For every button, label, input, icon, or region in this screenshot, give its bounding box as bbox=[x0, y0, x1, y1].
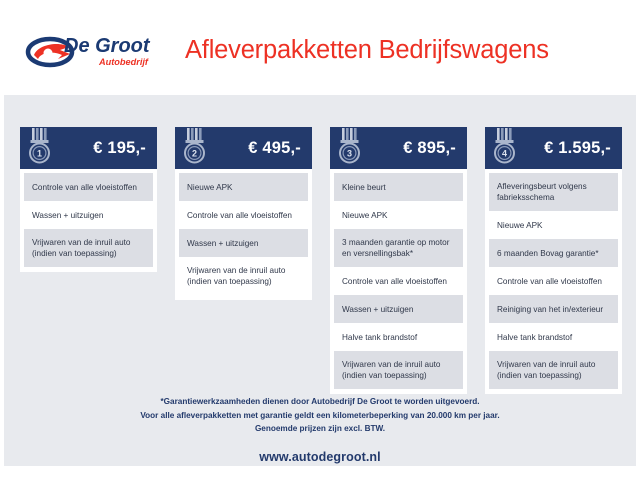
footer: *Garantiewerkzaamheden dienen door Autob… bbox=[4, 395, 636, 464]
package-price-header-2: 2 € 495,- bbox=[175, 127, 312, 169]
package-price-3: € 895,- bbox=[403, 139, 456, 158]
package-columns: 1 € 195,- Controle van alle vloeistoffen… bbox=[4, 95, 636, 395]
list-item: Vrijwaren van de inruil auto (indien van… bbox=[334, 351, 463, 389]
medal-icon: 1 bbox=[27, 128, 53, 168]
list-item: Controle van alle vloeistoffen bbox=[179, 201, 308, 229]
list-item: Wassen + uitzuigen bbox=[24, 201, 153, 229]
item-label: Controle van alle vloeistoffen bbox=[187, 210, 292, 221]
list-item: Afleveringsbeurt volgens fabrieksschema bbox=[489, 173, 618, 211]
package-item-list-2: Nieuwe APK Controle van alle vloeistoffe… bbox=[175, 169, 312, 300]
package-price-4: € 1.595,- bbox=[544, 139, 611, 158]
list-item: Halve tank brandstof bbox=[489, 323, 618, 351]
item-label: Reiniging van het in/exterieur bbox=[497, 304, 603, 315]
footnote-line-1: *Garantiewerkzaamheden dienen door Autob… bbox=[4, 395, 636, 409]
item-label: Vrijwaren van de inruil auto (indien van… bbox=[187, 265, 285, 287]
footnote-line-2: Voor alle afleverpakketten met garantie … bbox=[4, 409, 636, 423]
svg-text:4: 4 bbox=[502, 149, 507, 159]
page-header: De Groot Autobedrijf Afleverpakketten Be… bbox=[0, 0, 640, 95]
svg-text:De Groot: De Groot bbox=[64, 35, 151, 57]
package-item-list-4: Afleveringsbeurt volgens fabrieksschema … bbox=[485, 169, 622, 394]
list-item: Kleine beurt bbox=[334, 173, 463, 201]
item-label: Halve tank brandstof bbox=[342, 332, 417, 343]
page-title: Afleverpakketten Bedrijfswagens bbox=[185, 36, 549, 65]
svg-text:Autobedrijf: Autobedrijf bbox=[98, 57, 149, 67]
package-price-header-4: 4 € 1.595,- bbox=[485, 127, 622, 169]
svg-text:2: 2 bbox=[192, 149, 197, 159]
item-label: Vrijwaren van de inruil auto (indien van… bbox=[497, 359, 595, 381]
medal-icon: 2 bbox=[182, 128, 208, 168]
item-label: Halve tank brandstof bbox=[497, 332, 572, 343]
list-item: Vrijwaren van de inruil auto (indien van… bbox=[179, 257, 308, 295]
list-item: Halve tank brandstof bbox=[334, 323, 463, 351]
item-label: Vrijwaren van de inruil auto (indien van… bbox=[342, 359, 440, 381]
medal-icon: 3 bbox=[337, 128, 363, 168]
item-label: Wassen + uitzuigen bbox=[32, 210, 103, 221]
list-item: Vrijwaren van de inruil auto (indien van… bbox=[24, 229, 153, 267]
list-item: Controle van alle vloeistoffen bbox=[334, 267, 463, 295]
item-label: Nieuwe APK bbox=[342, 210, 388, 221]
item-label: Vrijwaren van de inruil auto (indien van… bbox=[32, 237, 130, 259]
package-price-1: € 195,- bbox=[93, 139, 146, 158]
medal-icon: 4 bbox=[492, 128, 518, 168]
svg-text:1: 1 bbox=[37, 149, 42, 159]
list-item: Controle van alle vloeistoffen bbox=[489, 267, 618, 295]
content-panel: 1 € 195,- Controle van alle vloeistoffen… bbox=[4, 95, 636, 466]
package-card-2[interactable]: 2 € 495,- Nieuwe APK Controle van alle v… bbox=[175, 127, 312, 300]
footnote-line-3: Genoemde prijzen zijn excl. BTW. bbox=[4, 422, 636, 436]
list-item: Reiniging van het in/exterieur bbox=[489, 295, 618, 323]
svg-text:3: 3 bbox=[347, 149, 352, 159]
list-item: 3 maanden garantie op motor en versnelli… bbox=[334, 229, 463, 267]
item-label: Nieuwe APK bbox=[497, 220, 543, 231]
item-label: Nieuwe APK bbox=[187, 182, 233, 193]
item-label: Controle van alle vloeistoffen bbox=[342, 276, 447, 287]
list-item: Controle van alle vloeistoffen bbox=[24, 173, 153, 201]
item-label: Wassen + uitzuigen bbox=[187, 238, 258, 249]
package-price-header-1: 1 € 195,- bbox=[20, 127, 157, 169]
item-label: Afleveringsbeurt volgens fabrieksschema bbox=[497, 181, 587, 203]
website-link[interactable]: www.autodegroot.nl bbox=[4, 450, 636, 464]
package-card-4[interactable]: 4 € 1.595,- Afleveringsbeurt volgens fab… bbox=[485, 127, 622, 394]
page-root: De Groot Autobedrijf Afleverpakketten Be… bbox=[0, 0, 640, 480]
list-item: Vrijwaren van de inruil auto (indien van… bbox=[489, 351, 618, 389]
list-item: Nieuwe APK bbox=[179, 173, 308, 201]
package-card-3[interactable]: 3 € 895,- Kleine beurt Nieuwe APK 3 maan… bbox=[330, 127, 467, 394]
package-item-list-3: Kleine beurt Nieuwe APK 3 maanden garant… bbox=[330, 169, 467, 394]
list-item: Wassen + uitzuigen bbox=[179, 229, 308, 257]
item-label: Kleine beurt bbox=[342, 182, 386, 193]
item-label: 3 maanden garantie op motor en versnelli… bbox=[342, 237, 449, 259]
package-item-list-1: Controle van alle vloeistoffen Wassen + … bbox=[20, 169, 157, 272]
company-logo[interactable]: De Groot Autobedrijf bbox=[20, 28, 165, 76]
package-price-2: € 495,- bbox=[248, 139, 301, 158]
item-label: Controle van alle vloeistoffen bbox=[497, 276, 602, 287]
item-label: 6 maanden Bovag garantie* bbox=[497, 248, 599, 259]
list-item: Nieuwe APK bbox=[489, 211, 618, 239]
list-item: Nieuwe APK bbox=[334, 201, 463, 229]
item-label: Wassen + uitzuigen bbox=[342, 304, 413, 315]
list-item: 6 maanden Bovag garantie* bbox=[489, 239, 618, 267]
package-price-header-3: 3 € 895,- bbox=[330, 127, 467, 169]
list-item: Wassen + uitzuigen bbox=[334, 295, 463, 323]
package-card-1[interactable]: 1 € 195,- Controle van alle vloeistoffen… bbox=[20, 127, 157, 272]
item-label: Controle van alle vloeistoffen bbox=[32, 182, 137, 193]
